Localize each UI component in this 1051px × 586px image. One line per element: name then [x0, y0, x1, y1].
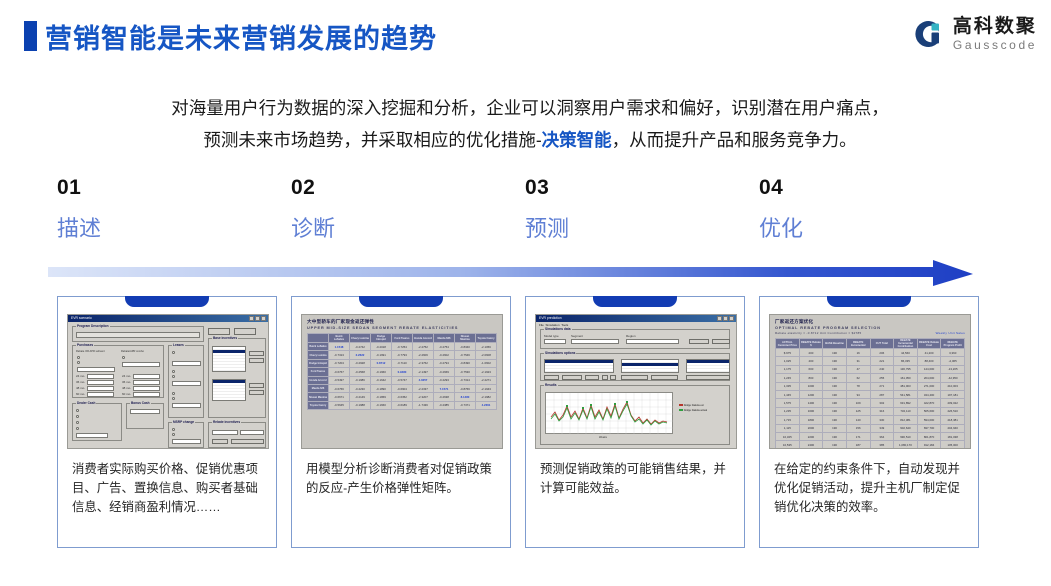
table-col-header: Nissan Maxima	[455, 334, 476, 343]
table-cell: $ 975	[776, 349, 800, 357]
term-label: 24 mo.	[76, 374, 85, 378]
chart-legend-item: Dodge Dakota actual	[679, 409, 707, 412]
intro-paragraph: 对海量用户行为数据的深入挖掘和分析，企业可以洞察用户需求和偏好，识别潜在用户痛点…	[50, 92, 1010, 156]
field-label: Model type	[544, 334, 559, 338]
table-cell: 1,235	[776, 407, 800, 415]
table-cell: 240	[870, 365, 894, 373]
table-cell: -0.1869	[371, 393, 392, 401]
table-cell: 109	[846, 399, 870, 407]
table-cell: -2.2337	[413, 384, 434, 392]
stage-02: 02 诊断	[291, 176, 491, 243]
group-label: Results	[544, 383, 558, 387]
table-cell: 7.1571	[434, 384, 455, 392]
group-label: Leases	[172, 343, 185, 347]
table-cell: -0.7204	[329, 359, 350, 367]
card-describe-screenshot: EVR scenario Program Description Base in…	[67, 314, 269, 449]
table-title-en: OPTIMAL REBATE PROGRAM SELECTION	[775, 326, 965, 330]
table-cell: 190	[823, 357, 847, 365]
page-title: 营销智能是未来营销发展的趋势	[45, 17, 437, 56]
brand-logo: 高科数聚 Gausscode	[910, 17, 1037, 51]
table-cell: -0.1991	[371, 351, 392, 359]
term-label: 24 mo.	[122, 374, 131, 378]
table-cell: 1,575	[776, 399, 800, 407]
table-cell: -0.2669	[434, 368, 455, 376]
table-row-header: Ford Taurus	[308, 368, 329, 376]
table-cell: -0.2794	[434, 359, 455, 367]
table-cell: -0.8340	[455, 343, 476, 351]
table-cell: -2,065	[941, 357, 965, 365]
table-row: 1,7151800190140330812,381594,000218,381	[776, 416, 965, 424]
table-col-header: REBATE Program Profit	[941, 339, 965, 349]
subgroup-label: Rebate OR APR subvent	[76, 350, 105, 353]
card-diagnose-screenshot: 大中型轿车的厂家现金返还弹性 UPPER MID-SIZE SEDAN SEGM…	[301, 314, 503, 449]
table-cell: -0.6352	[392, 393, 413, 401]
intro-line-2: 预测未来市场趋势，并采取相应的优化措施-决策智能，从而提升产品和服务竞争力。	[50, 124, 1010, 156]
table-cell: -0.1988	[350, 401, 371, 409]
table-cell: 271,000	[917, 382, 941, 390]
table-cell: 105,000	[941, 441, 965, 449]
table-cell: 2200	[799, 432, 823, 440]
table-cell: -0.7314	[455, 376, 476, 384]
table-col-header: REBATE Incremental Contribution	[894, 339, 918, 349]
table-cell: -0.6766	[329, 384, 350, 392]
table-row: Honda Accord-0.5497-0.1986-0.1642-0.5747…	[308, 376, 497, 384]
dialog-title: EVR scenario	[71, 316, 92, 320]
intro-line-1: 对海量用户行为数据的深入挖掘和分析，企业可以洞察用户需求和偏好，识别潜在用户痛点…	[50, 92, 1010, 124]
table-cell: 47	[846, 365, 870, 373]
table-row-header: Mazda 626	[308, 384, 329, 392]
table-cell: 1,175	[776, 365, 800, 373]
table-cell: 190	[823, 365, 847, 373]
table-cell: 271	[870, 382, 894, 390]
table-cell: -0.7110	[392, 359, 413, 367]
card-tab-icon	[125, 296, 209, 307]
table-cell: -0.2568	[350, 368, 371, 376]
table-cell: -0.7530	[455, 368, 476, 376]
term-label: 36 mo.	[76, 380, 85, 384]
table-row-header: Nissan Maxima	[308, 393, 329, 401]
table-cell: 1000	[799, 382, 823, 390]
table-cell: -0.1642	[371, 376, 392, 384]
table-cell: 210,003	[941, 382, 965, 390]
table-row: 1,2351600190125316732,110505,600226,510	[776, 407, 965, 415]
gausscode-c-mark-icon	[910, 17, 944, 51]
table-col-header: REBATE Incremental	[846, 339, 870, 349]
table-cell: -0.6904	[392, 384, 413, 392]
stage-03: 03 预测	[525, 176, 725, 243]
table-cell: 330	[870, 416, 894, 424]
table-cell: 44,560	[894, 349, 918, 357]
table-cell: -0.6671	[329, 393, 350, 401]
table-cell: 1.1548	[329, 343, 350, 351]
table-cell: 1800	[799, 416, 823, 424]
term-label: 60 mo.	[122, 392, 131, 396]
table-col-header: ACTUAL Customer Price	[776, 339, 800, 349]
table-cell: -2.3207	[413, 393, 434, 401]
table-cell: 631,892	[894, 399, 918, 407]
table-col-header: CUT Total	[870, 339, 894, 349]
table-cell: 171	[846, 432, 870, 440]
table-cell: 218,381	[941, 416, 965, 424]
card-tab-icon	[593, 296, 677, 307]
table-cell: 4.2361	[476, 401, 497, 409]
table-row: Nissan Maxima-0.6671-0.2149-0.1869-0.635…	[308, 393, 497, 401]
table-row: Toyota Camry-0.5645-0.1988-0.1660-0.6189…	[308, 401, 497, 409]
chart-legend-item: Dodge Dakota est	[679, 404, 707, 407]
table-cell: -0.2754	[434, 343, 455, 351]
table-cell: 1,445	[776, 390, 800, 398]
stage-03-number: 03	[525, 176, 725, 200]
field-label: Segment	[571, 334, 583, 338]
table-cell: -0.5747	[392, 376, 413, 384]
table-cell: 190	[823, 416, 847, 424]
table-cell: 697,700	[917, 424, 941, 432]
table-col-header: REBATE Rebate Cost	[917, 339, 941, 349]
table-cell: 1400	[799, 399, 823, 407]
table-cell: -0.6189	[392, 401, 413, 409]
table-cell: -2.3762	[413, 359, 434, 367]
table-cell: 0.8712	[371, 359, 392, 367]
table-cell: -2.2752	[413, 343, 434, 351]
card-describe-caption: 消费者实际购买价格、促销优惠项目、广告、置换信息、购买者基础信息、经销商盈利情况…	[72, 460, 264, 517]
table-row: 1,1152000190156349902,640697,700204,940	[776, 424, 965, 432]
group-label: Program Description	[76, 324, 110, 328]
stage-cards: EVR scenario Program Description Base in…	[0, 296, 1051, 552]
table-cell: 31	[846, 357, 870, 365]
table-cell: 287	[870, 390, 894, 398]
table-cell: 4.0257	[413, 376, 434, 384]
table-cell: 1,080,170	[894, 441, 918, 449]
table-cell: 385	[870, 441, 894, 449]
table-col-header: Ford Taurus	[392, 334, 413, 343]
table-row: 1,445120019094287541,581344,400197,181	[776, 390, 965, 398]
intro-line-2-suffix: ，从而提升产品和服务竞争力。	[612, 130, 857, 150]
stage-02-number: 02	[291, 176, 491, 200]
table-cell: 62	[846, 374, 870, 382]
table-col-header: Toyota Camry	[476, 334, 497, 343]
table-cell: -0.5645	[329, 401, 350, 409]
table-cell: 732,110	[894, 407, 918, 415]
table-title-cn: 厂家返还方案优化	[775, 319, 965, 325]
table-cell: -13,205	[941, 365, 965, 373]
table-cell: -2.1982	[476, 393, 497, 401]
elasticity-matrix-table: Buick LeSabreChevy LuminaDodge IntrepidF…	[307, 333, 497, 410]
table-cell: 812,381	[894, 416, 918, 424]
table-cell: 1600	[799, 407, 823, 415]
page-header: 营销智能是未来营销发展的趋势 高科数聚 Gausscode	[0, 0, 1051, 72]
logo-name-en: Gausscode	[953, 39, 1037, 51]
table-cell: 190	[823, 441, 847, 449]
legend-label: Dodge Dakota actual	[684, 409, 707, 412]
table-cell: 400	[799, 357, 823, 365]
table-cell: 2.2622	[350, 351, 371, 359]
stage-04-number: 04	[759, 176, 959, 200]
table-cell: 3,360	[941, 349, 965, 357]
table-cell: -2.1497	[413, 368, 434, 376]
card-diagnose-caption: 用模型分析诊断消费者对促销政策的反应-产生价格弹性矩阵。	[306, 460, 498, 498]
table-cell: -0.1986	[350, 376, 371, 384]
progress-arrow	[48, 258, 1008, 288]
table-cell: 2400	[799, 441, 823, 449]
term-label: 48 mo.	[76, 386, 85, 390]
table-cell: -0.7793	[392, 351, 413, 359]
table-row: 10,53524001901873851,080,170912,184105,0…	[776, 441, 965, 449]
table-row: 10,3252200190171364990,510801,870181,038	[776, 432, 965, 440]
table-col-header: Chevy Lumina	[350, 334, 371, 343]
table-cell: -0.8766	[455, 384, 476, 392]
card-diagnose[interactable]: 大中型轿车的厂家现金返还弹性 UPPER MID-SIZE SEDAN SEGM…	[291, 296, 511, 548]
table-cell: -0.5497	[329, 376, 350, 384]
table-col-header: Dodge Intrepid	[371, 334, 392, 343]
table-cell: 1,025	[776, 357, 800, 365]
table-row: Buick LeSabre1.1548-0.2742-0.2018-0.7254…	[308, 343, 497, 351]
subgroup-label: Rebate/APR combo	[121, 350, 144, 353]
table-col-header: Honda Accord	[413, 334, 434, 343]
table-cell: 221	[870, 357, 894, 365]
table-title-cn: 大中型轿车的厂家现金返还弹性	[307, 319, 497, 325]
group-label: Base incentives	[212, 336, 238, 340]
intro-line-2-prefix: 预测未来市场趋势，并采取相应的优化措施-	[203, 130, 541, 150]
group-label: MSRP change	[172, 420, 195, 424]
table-cell: -2.1943	[476, 384, 497, 392]
table-col-header: Mazda 626	[434, 334, 455, 343]
table-cell: 190	[823, 374, 847, 382]
table-cell: 88,400	[917, 357, 941, 365]
table-row: Chevy Lumina-0.73132.2622-0.1991-0.7793-…	[308, 351, 497, 359]
table-cell: 1,335	[776, 382, 800, 390]
table-cell: 187	[846, 441, 870, 449]
table-cell: 140	[846, 416, 870, 424]
table-cell: 902,640	[894, 424, 918, 432]
table-cell: -0.8490	[455, 359, 476, 367]
table-row-header: Dodge Intrepid	[308, 359, 329, 367]
table-cell: 16	[846, 349, 870, 357]
table-cell: 78	[846, 382, 870, 390]
stage-01-label: 描述	[57, 211, 257, 243]
table-row: 1,24580019062255161,050204,000-42,950	[776, 374, 965, 382]
table-cell: 200	[799, 349, 823, 357]
table-cell: 255	[870, 374, 894, 382]
table-cell: 204,940	[941, 424, 965, 432]
table-cell: 600	[799, 365, 823, 373]
table-cell: -0.1660	[371, 401, 392, 409]
table-cell: -0.7313	[329, 351, 350, 359]
table-cell: -0.2928	[350, 359, 371, 367]
chart-xlabel: Weeks	[599, 436, 607, 439]
group-label: Simulations data	[544, 327, 572, 331]
table-cell: -2.1923	[476, 368, 497, 376]
table-cell: 161,050	[894, 374, 918, 382]
table-cell: 144,000	[917, 365, 941, 373]
table-cell: 125	[846, 407, 870, 415]
table-cell: 190	[823, 390, 847, 398]
table-cell: -1.0602	[476, 359, 497, 367]
table-row: $ 9752001901620644,56041,2003,360	[776, 349, 965, 357]
table-cell: 8.1480	[455, 393, 476, 401]
table-cell: 2000	[799, 424, 823, 432]
stage-02-label: 诊断	[291, 211, 491, 243]
table-cell: 302	[870, 399, 894, 407]
table-cell: 190	[823, 349, 847, 357]
logo-name-cn: 高科数聚	[953, 17, 1037, 36]
table-cell: 190	[823, 407, 847, 415]
table-cell: 226,510	[941, 407, 965, 415]
title-accent-bar	[24, 21, 37, 51]
card-optimize-caption: 在给定的约束条件下，自动发现并优化促销活动，提升主机厂制定促销优化决策的效率。	[774, 460, 966, 517]
card-describe[interactable]: EVR scenario Program Description Base in…	[57, 296, 277, 548]
card-optimize-screenshot: 厂家返还方案优化 OPTIMAL REBATE PROGRAM SELECTIO…	[769, 314, 971, 449]
table-row: 1,5751400190109302631,892422,870209,022	[776, 399, 965, 407]
table-subtitle: Rebate elasticity = -0.8712 Unit Contrib…	[775, 331, 861, 335]
table-cell: -0.2602	[434, 351, 455, 359]
table-cell: -2.1056	[476, 343, 497, 351]
table-cell: 1,715	[776, 416, 800, 424]
table-cell: -0.2293	[434, 376, 455, 384]
table-cell: 94	[846, 390, 870, 398]
table-cell: -1.7436	[413, 401, 434, 409]
group-label: Bonus Cash	[130, 401, 151, 405]
term-label: 36 mo.	[122, 380, 131, 384]
table-corner-note: Weekly Unit Sales	[936, 331, 965, 335]
table-cell: -2.2271	[476, 376, 497, 384]
dialog-title: EVR prediction	[539, 316, 562, 320]
term-label: 60 mo.	[76, 392, 85, 396]
table-row: Mazda 626-0.6766-0.2230-0.1890-0.6904-2.…	[308, 384, 497, 392]
stage-labels: 01 描述 02 诊断 03 预测 04 优化	[0, 176, 1051, 256]
table-row: 1,0254001903122186,33588,400-2,065	[776, 357, 965, 365]
stage-01: 01 描述	[57, 176, 257, 243]
table-row: 1,17560019047240130,795144,000-13,205	[776, 365, 965, 373]
table-cell: 130,795	[894, 365, 918, 373]
group-label: Dealer Cash	[76, 401, 96, 405]
table-cell: 541,581	[894, 390, 918, 398]
legend-label: Dodge Dakota est	[684, 404, 704, 407]
table-cell: -0.2742	[350, 343, 371, 351]
table-cell: 800	[799, 374, 823, 382]
table-cell: -0.1890	[371, 384, 392, 392]
table-row-header: Honda Accord	[308, 376, 329, 384]
table-cell: 10,535	[776, 441, 800, 449]
table-cell: 190	[823, 424, 847, 432]
optimal-rebate-table: ACTUAL Customer PriceREBATE Rebate $BASE…	[775, 338, 965, 449]
table-row-header: Chevy Lumina	[308, 351, 329, 359]
group-label: Simulations options	[544, 351, 576, 355]
table-cell: 181,038	[941, 432, 965, 440]
table-cell: -42,950	[941, 374, 965, 382]
table-cell: -0.1960	[371, 368, 392, 376]
table-cell: -0.2018	[371, 343, 392, 351]
table-cell: 349	[870, 424, 894, 432]
table-cell: -0.2230	[350, 384, 371, 392]
table-cell: 344,400	[917, 390, 941, 398]
table-cell: -0.7371	[455, 401, 476, 409]
term-label: 48 mo.	[122, 386, 131, 390]
card-optimize[interactable]: 厂家返还方案优化 OPTIMAL REBATE PROGRAM SELECTIO…	[759, 296, 979, 548]
table-cell: 0.9480	[392, 368, 413, 376]
table-cell: 990,510	[894, 432, 918, 440]
table-row-header: Toyota Camry	[308, 401, 329, 409]
table-cell: -2.2606	[413, 351, 434, 359]
table-cell: 801,870	[917, 432, 941, 440]
table-cell: 204,000	[917, 374, 941, 382]
stage-01-number: 01	[57, 176, 257, 200]
table-cell: 1,245	[776, 374, 800, 382]
field-label: Region	[626, 334, 636, 338]
table-title-en: UPPER MID-SIZE SEDAN SEGMENT REBATE ELAS…	[307, 326, 497, 330]
table-cell: 206	[870, 349, 894, 357]
table-cell: 86,335	[894, 357, 918, 365]
table-cell: -0.2385	[434, 401, 455, 409]
table-cell: 422,870	[917, 399, 941, 407]
table-row-header: Buick LeSabre	[308, 343, 329, 351]
table-cell: -0.7254	[392, 343, 413, 351]
card-tab-icon	[827, 296, 911, 307]
table-col-header: REBATE Rebate $	[799, 339, 823, 349]
table-row: Dodge Intrepid-0.7204-0.29280.8712-0.711…	[308, 359, 497, 367]
table-cell: 364	[870, 432, 894, 440]
card-predict[interactable]: EVR prediction File Simulation Tools Sim…	[525, 296, 745, 548]
table-cell: 197,181	[941, 390, 965, 398]
table-cell: 481,003	[894, 382, 918, 390]
table-cell: 190	[823, 432, 847, 440]
table-cell: -0.6767	[329, 368, 350, 376]
table-cell: -0.7546	[455, 351, 476, 359]
table-cell: -2.0608	[476, 351, 497, 359]
table-cell: 190	[823, 382, 847, 390]
table-row: 1,335100019078271481,003271,000210,003	[776, 382, 965, 390]
stage-04-label: 优化	[759, 211, 959, 243]
stage-03-label: 预测	[525, 211, 725, 243]
table-col-header: BASE Baseline	[823, 339, 847, 349]
table-cell: 1,115	[776, 424, 800, 432]
group-label: Purchases	[76, 343, 94, 347]
table-cell: 156	[846, 424, 870, 432]
table-row: Ford Taurus-0.6767-0.2568-0.19600.9480-2…	[308, 368, 497, 376]
table-cell: 594,000	[917, 416, 941, 424]
intro-highlight: 决策智能	[542, 130, 612, 150]
group-label: Rebate incentives	[212, 420, 241, 424]
table-cell: -0.2638	[434, 393, 455, 401]
table-col-header: Buick LeSabre	[329, 334, 350, 343]
card-predict-screenshot: EVR prediction File Simulation Tools Sim…	[535, 314, 737, 449]
table-cell: 912,184	[917, 441, 941, 449]
table-cell: 209,022	[941, 399, 965, 407]
table-cell: 190	[823, 399, 847, 407]
card-tab-icon	[359, 296, 443, 307]
stage-04: 04 优化	[759, 176, 959, 243]
table-cell: -0.2149	[350, 393, 371, 401]
table-cell: 1200	[799, 390, 823, 398]
table-cell: 316	[870, 407, 894, 415]
card-predict-caption: 预测促销政策的可能销售结果，并计算可能效益。	[540, 460, 732, 498]
table-cell: 10,325	[776, 432, 800, 440]
table-cell: 41,200	[917, 349, 941, 357]
table-cell: 505,600	[917, 407, 941, 415]
